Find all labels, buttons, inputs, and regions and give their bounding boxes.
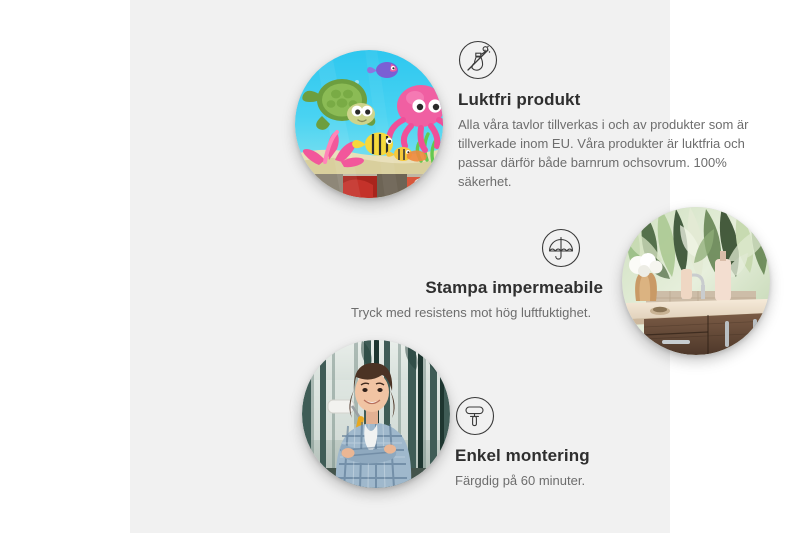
feature-waterproof: Stampa impermeabile Tryck med resistens … <box>335 228 607 322</box>
feature-infographic: Luktfri produkt Alla våra tavlor tillver… <box>0 0 800 533</box>
feature-title: Stampa impermeabile <box>335 277 607 300</box>
feature-mounting: Enkel montering Färgdig på 60 minuter. <box>455 396 745 490</box>
no-fragrance-spray-bottle-icon <box>458 40 498 80</box>
umbrella-icon <box>541 228 581 268</box>
feature-description: Alla våra tavlor tillverkas i och av pro… <box>458 115 753 191</box>
feature-title: Enkel montering <box>455 445 745 468</box>
paint-roller-icon <box>455 396 495 436</box>
underwater-cartoon-circle-image <box>295 50 443 198</box>
feature-description: Tryck med resistens mot hög luftfuktighe… <box>335 303 607 322</box>
feature-odourless: Luktfri produkt Alla våra tavlor tillver… <box>458 40 753 191</box>
feature-title: Luktfri produkt <box>458 89 753 112</box>
content-panel: Luktfri produkt Alla våra tavlor tillver… <box>130 0 670 533</box>
bathroom-wallpaper-circle-image <box>622 207 770 355</box>
feature-description: Färgdig på 60 minuter. <box>455 471 745 490</box>
woman-paint-roller-circle-image <box>302 340 450 488</box>
